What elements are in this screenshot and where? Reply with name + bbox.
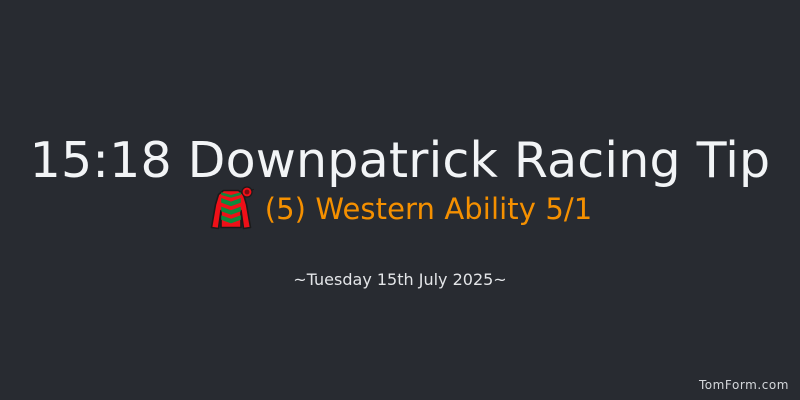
- race-date: ~Tuesday 15th July 2025~: [0, 270, 800, 290]
- racing-tip-card: 15:18 Downpatrick Racing Tip: [0, 0, 800, 400]
- tip-row: (5) Western Ability 5/1: [0, 186, 800, 232]
- silk-cap-group: [242, 187, 253, 197]
- tip-selection-text: (5) Western Ability 5/1: [265, 192, 593, 226]
- jockey-silks-svg: [208, 186, 254, 232]
- site-watermark: TomForm.com: [699, 378, 789, 392]
- page-title: 15:18 Downpatrick Racing Tip: [0, 132, 800, 190]
- jockey-silks-icon: [208, 186, 254, 232]
